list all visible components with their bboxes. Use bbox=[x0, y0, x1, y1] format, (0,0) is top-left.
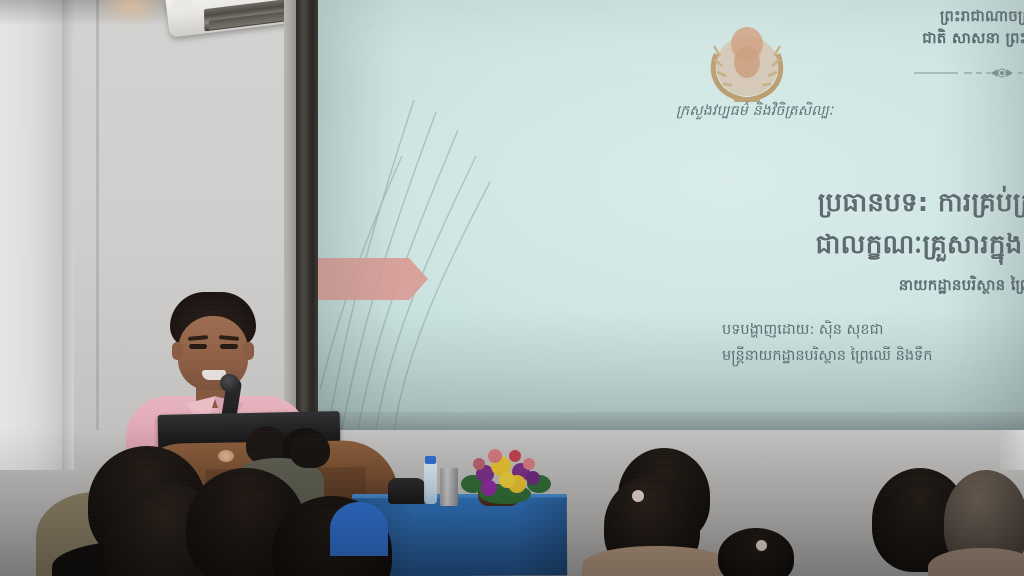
speaker-ear-right bbox=[243, 342, 254, 360]
slide-presenter-block: បទបង្ហាញដោយ: ស៊ិន សុខជា មន្ត្រីនាយកដ្ឋាន… bbox=[722, 318, 1024, 370]
hair-clip-icon bbox=[632, 490, 644, 502]
kingdom-line-1: ព្រះរាជាណាចក្រកម្ពុជា bbox=[858, 6, 1024, 28]
podium-lamp bbox=[218, 450, 234, 462]
khmer-ornament-divider-icon bbox=[912, 66, 1024, 80]
speaker-ear-left bbox=[172, 342, 183, 360]
screenshot-root: ព្រះរាជាណាចក្រកម្ពុជា ជាតិ សាសនា ព្រះមហា… bbox=[0, 0, 1024, 576]
slide-title: ប្រធានបទ: ការគ្រប់គ្រងកាកសំណល់ ជាលក្ខណៈគ… bbox=[718, 182, 1024, 266]
presenter-line-2: មន្ត្រីនាយកដ្ឋានបរិស្ថាន ព្រៃឈើ និងទឹក bbox=[722, 344, 1024, 370]
water-bottle bbox=[424, 462, 437, 504]
kingdom-line-2: ជាតិ សាសនា ព្រះមហាក្សត្រ bbox=[858, 28, 1024, 50]
ceiling-light-glow bbox=[96, 0, 166, 26]
slide-subtitle: នាយកដ្ឋានបរិស្ថាន ព្រៃឈើ និងទឹក bbox=[718, 276, 1024, 298]
black-bag bbox=[388, 478, 426, 504]
wall-left-panel bbox=[0, 0, 64, 470]
hair-clip-icon bbox=[756, 540, 767, 551]
speaker-eye-left bbox=[189, 344, 207, 349]
audience-head bbox=[290, 432, 330, 468]
reed-decoration-icon bbox=[318, 60, 558, 430]
slide-kingdom-heading: ព្រះរាជាណាចក្រកម្ពុជា ជាតិ សាសនា ព្រះមហា… bbox=[858, 6, 1024, 50]
projection-screen: ព្រះរាជាណាចក្រកម្ពុជា ជាតិ សាសនា ព្រះមហា… bbox=[318, 0, 1024, 430]
arrow-banner-shape bbox=[318, 258, 428, 300]
wall-left-edge bbox=[62, 0, 74, 470]
presenter-line-1: បទបង្ហាញដោយ: ស៊ិន សុខជា bbox=[722, 318, 1024, 344]
slide-date: ថ្ងៃទី២៧ ខែមីនា ឆ្នាំ២០២៤ bbox=[1018, 364, 1024, 386]
screen-bottom-band bbox=[318, 412, 1024, 430]
water-bottle-cap bbox=[425, 456, 436, 464]
audience-body bbox=[582, 546, 732, 576]
ac-knob bbox=[172, 0, 194, 15]
audience-shoulder bbox=[330, 502, 388, 556]
speaker-eye-right bbox=[220, 344, 238, 349]
cambodia-ministry-emblem-icon bbox=[704, 14, 790, 106]
slide-title-line-1: ប្រធានបទ: ការគ្រប់គ្រងកាកសំណល់ bbox=[718, 182, 1024, 224]
flower-bouquet-icon bbox=[455, 444, 555, 506]
slide-ministry-caption: ក្រសួងវប្បធម៌ និងវិចិត្រសិល្បៈ bbox=[676, 101, 906, 122]
slide-title-line-2: ជាលក្ខណៈគ្រួសារក្នុងតំបន់បេតិកភណ្ឌ bbox=[718, 224, 1024, 266]
wall-seam bbox=[96, 0, 99, 430]
